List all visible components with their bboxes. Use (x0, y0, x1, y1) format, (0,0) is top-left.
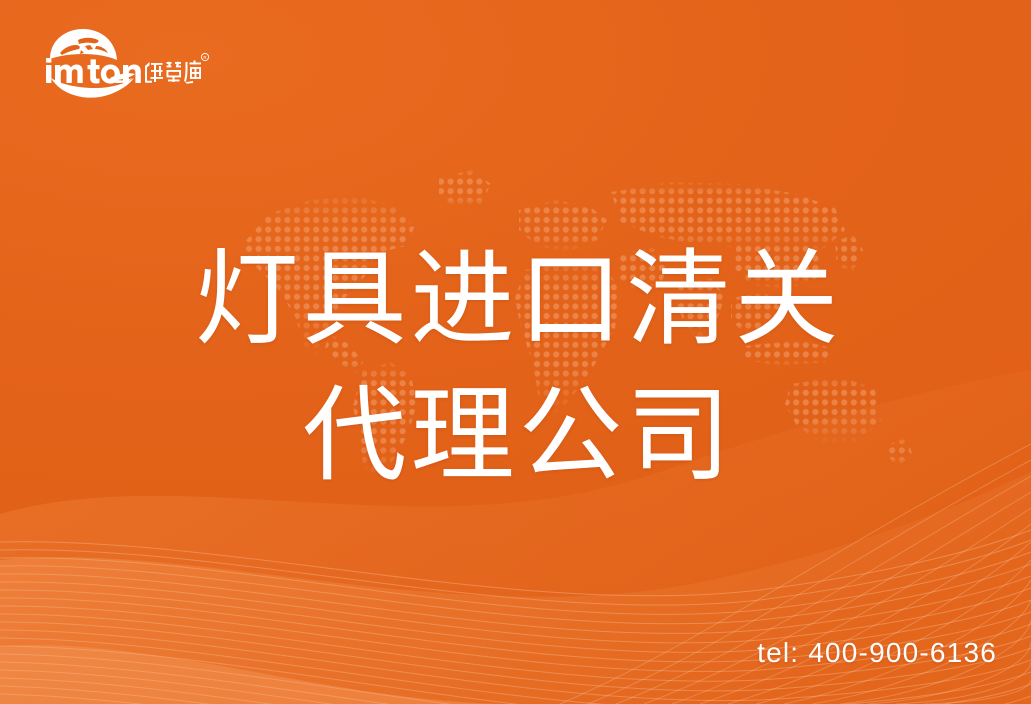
page-title: 灯具进口清关 代理公司 (0, 232, 1031, 504)
globe-dome-icon (50, 29, 117, 60)
logo-chinese-name (145, 61, 201, 84)
headline-line-1: 灯具进口清关 (6, 232, 1031, 368)
svg-text:R: R (203, 55, 206, 60)
contact-phone[interactable]: tel: 400-900-6136 (757, 637, 997, 669)
promo-banner: R 灯具进口清关 代理公司 tel: 400-900-6136 (0, 0, 1031, 704)
logo-wordmark (46, 58, 141, 84)
headline-line-2: 代理公司 (6, 368, 1031, 504)
imton-logo[interactable]: R (38, 26, 210, 102)
